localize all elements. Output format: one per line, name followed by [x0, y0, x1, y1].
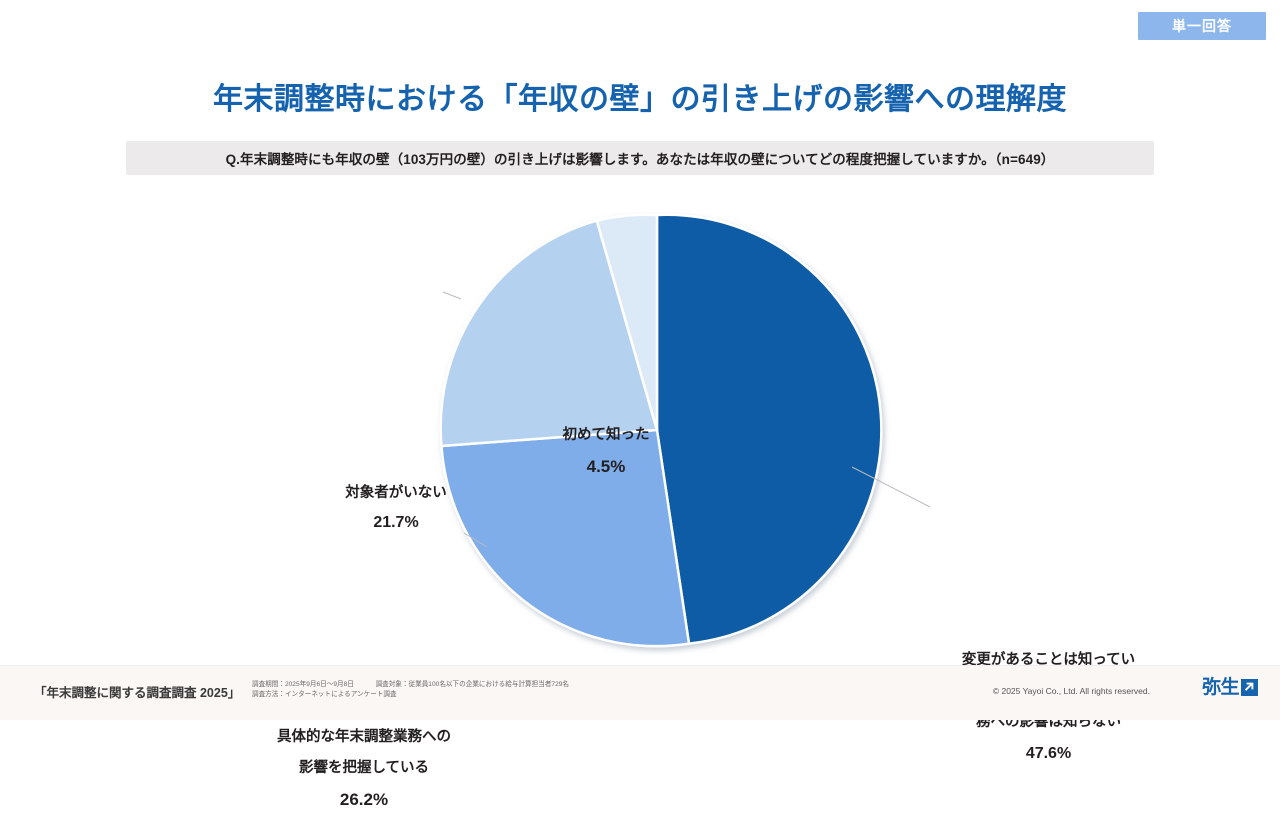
- footer-survey-meta: 調査期間：2025年9月6日～9月8日 調査対象：従業員100名以下の企業におけ…: [252, 680, 569, 700]
- footer-meta-row-2: 調査方法：インターネットによるアンケート調査: [252, 690, 569, 700]
- arrow-up-right-glyph: [1241, 679, 1258, 696]
- answer-type-badge-label: 単一回答: [1172, 16, 1232, 36]
- slice-value-1: 47.6%: [941, 738, 1156, 769]
- footer-copyright: © 2025 Yayoi Co., Ltd. All rights reserv…: [993, 686, 1150, 696]
- answer-type-badge: 単一回答: [1138, 12, 1266, 40]
- slice-label-4: 初めて知った 4.5%: [541, 420, 671, 482]
- arrow-up-right-icon: [1241, 679, 1258, 696]
- footer-meta-method: 調査方法：インターネットによるアンケート調査: [252, 691, 397, 698]
- slice-label-3-line1: 対象者がいない: [322, 478, 470, 508]
- question-text: Q.年末調整時にも年収の壁（103万円の壁）の引き上げは影響します。あなたは年収…: [226, 148, 1055, 168]
- footer: 「年末調整に関する調査調査 2025」 調査期間：2025年9月6日～9月8日 …: [0, 665, 1280, 720]
- slice-label-2: 具体的な年末調整業務への 影響を把握している 26.2%: [248, 722, 480, 815]
- yayoi-logo: 弥生: [1202, 678, 1258, 697]
- footer-meta-period: 調査期間：2025年9月6日～9月8日: [252, 681, 354, 688]
- slice-value-4: 4.5%: [541, 451, 671, 482]
- slice-label-3: 対象者がいない 21.7%: [322, 478, 470, 538]
- footer-survey-title: 「年末調整に関する調査調査 2025」: [34, 682, 240, 701]
- slice-value-3: 21.7%: [322, 508, 470, 538]
- footer-meta-row-1: 調査期間：2025年9月6日～9月8日 調査対象：従業員100名以下の企業におけ…: [252, 680, 569, 690]
- slice-label-2-line2: 影響を把握している: [248, 753, 480, 784]
- slice-label-2-line1: 具体的な年末調整業務への: [248, 722, 480, 753]
- yayoi-logo-text: 弥生: [1202, 678, 1239, 697]
- question-bar: Q.年末調整時にも年収の壁（103万円の壁）の引き上げは影響します。あなたは年収…: [126, 141, 1154, 175]
- footer-meta-target: 調査対象：従業員100名以下の企業における給与計算担当者729名: [376, 681, 569, 688]
- pie-chart: 変更があることは知ってい るが、具体的な年末調整業 務への影響は知らない 47.…: [0, 195, 1280, 655]
- slice-value-2: 26.2%: [248, 784, 480, 815]
- slice-label-4-line1: 初めて知った: [541, 420, 671, 451]
- pie-slice-1: [657, 215, 881, 644]
- leader-line-left: [443, 292, 461, 299]
- page-title: 年末調整時における「年収の壁」の引き上げの影響への理解度: [0, 74, 1280, 118]
